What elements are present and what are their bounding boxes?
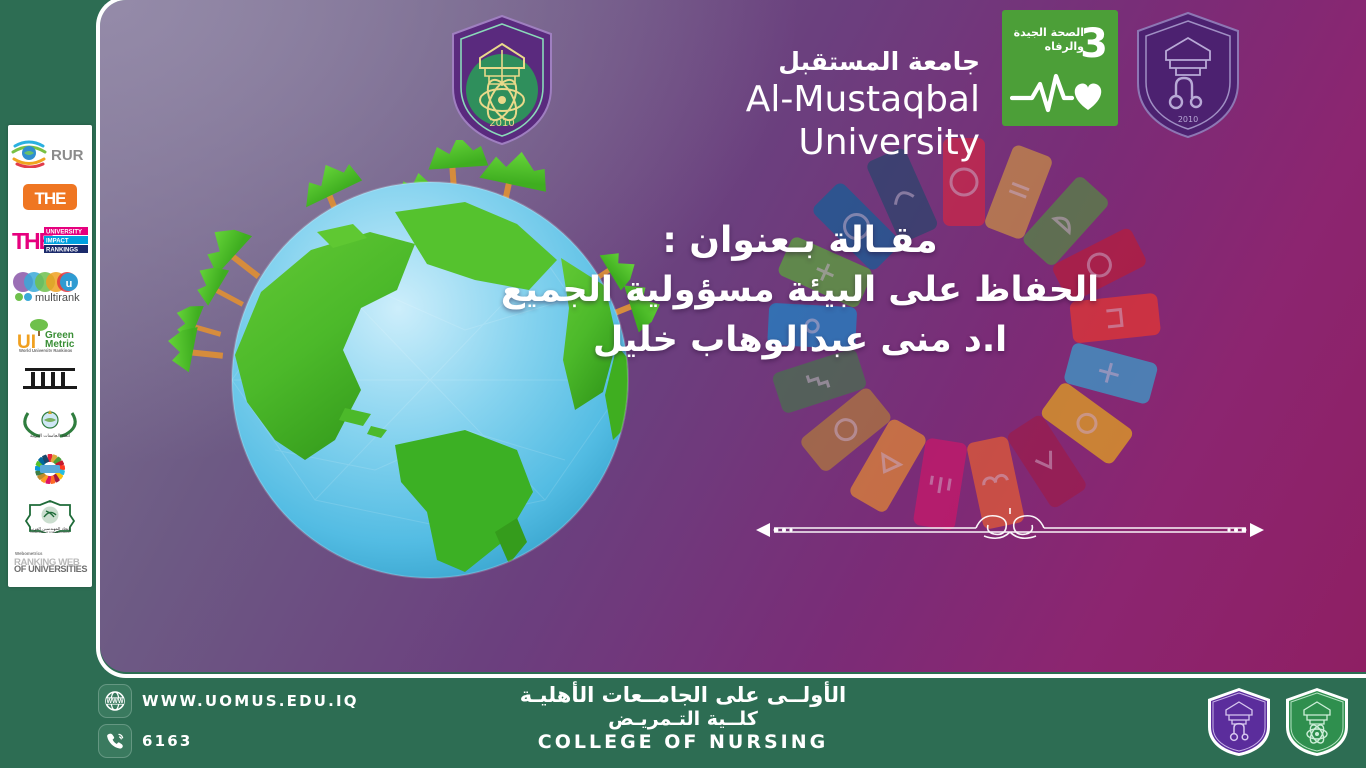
svg-text:IMPACT: IMPACT	[46, 239, 69, 245]
footer-tagline-ar: الأولــى على الجامــعات الأهليـة	[0, 682, 1366, 708]
sdg-wheel-logo[interactable]	[11, 446, 89, 492]
svg-text:UNIVERSITY: UNIVERSITY	[46, 230, 82, 236]
college-of-nursing-emblem-purple	[1204, 686, 1274, 758]
low-poly-earth-illustration	[165, 140, 705, 610]
svg-text:multirank: multirank	[35, 292, 80, 303]
al-mustaqbal-university-emblem: 2010	[447, 14, 557, 146]
federation-arab-engineers-logo[interactable]: إتحاد المهندسين العرب Federation of Arab…	[11, 492, 89, 540]
rankings-sidebar: RUR THE THE UNIVERSITY IMPACT RANKINGS	[8, 125, 92, 587]
heartbeat-icon	[1010, 70, 1106, 114]
svg-text:RANKINGS: RANKINGS	[46, 248, 78, 254]
svg-text:RUR: RUR	[51, 147, 84, 164]
svg-text:اتحاد الجامعات العربية: اتحاد الجامعات العربية	[30, 434, 70, 439]
emblem-year: 2010	[489, 118, 514, 129]
sdg-goal-number: 3	[1080, 24, 1108, 64]
association-arab-universities-logo[interactable]: اتحاد الجامعات العربية	[11, 399, 89, 445]
sdg-goal-label: الصحة الجيدة والرفاه	[1012, 26, 1084, 54]
al-mustaqbal-university-emblem-green	[1282, 686, 1352, 758]
unesco-logo[interactable]	[11, 359, 89, 399]
article-headline: مقـالة بـعنوان : الحفاظ على البيئة مسؤول…	[420, 215, 1180, 365]
webometrics-logo[interactable]: Webometrics RANKING WEB OF UNIVERSITIES	[11, 541, 89, 579]
ui-greenmetric-logo[interactable]: UI Green Metric World University Ranking…	[11, 311, 89, 359]
headline-line-1: مقـالة بـعنوان :	[420, 215, 1180, 266]
university-name-en: Al-Mustaqbal University	[560, 78, 980, 164]
headline-line-3: ا.د منى عبدالوهاب خليل	[420, 316, 1180, 366]
sdg-goal-3-badge: 3 الصحة الجيدة والرفاه	[1002, 10, 1118, 126]
footer-college-ar: كلــية التـمريـض	[0, 708, 1366, 731]
rur-ranking-logo[interactable]: RUR	[11, 131, 89, 175]
footer-logos	[1204, 686, 1352, 758]
the-impact-rankings-logo[interactable]: THE UNIVERSITY IMPACT RANKINGS	[11, 218, 89, 262]
svg-text:THE: THE	[35, 189, 67, 208]
u-multirank-logo[interactable]: u multirank	[11, 262, 89, 310]
university-name-ar: جامعة المستقبل	[560, 48, 980, 76]
ornamental-divider	[740, 500, 1280, 546]
college-of-nursing-emblem: 2010	[1132, 10, 1244, 140]
the-ranking-logo[interactable]: THE	[11, 175, 89, 217]
svg-text:u: u	[66, 278, 73, 290]
slide-background: مقـالة بـعنوان : الحفاظ على البيئة مسؤول…	[0, 0, 1366, 768]
svg-text:World University Rankings: World University Rankings	[19, 348, 73, 352]
footer-college-block: الأولــى على الجامــعات الأهليـة كلــية …	[0, 682, 1366, 755]
footer-bar: WWW WWW.UOMUS.EDU.IQ 6163 الأولــى على ا…	[0, 680, 1366, 768]
footer-college-en: COLLEGE OF NURSING	[0, 731, 1366, 755]
svg-text:Federation of Arab Engineers: Federation of Arab Engineers	[30, 530, 70, 533]
svg-text:2010: 2010	[1178, 115, 1198, 124]
headline-line-2: الحفاظ على البيئة مسؤولية الجميع	[420, 266, 1180, 316]
svg-text:Webometrics: Webometrics	[15, 551, 43, 556]
svg-text:OF UNIVERSITIES: OF UNIVERSITIES	[14, 564, 87, 572]
university-title: جامعة المستقبل Al-Mustaqbal University	[560, 48, 980, 164]
